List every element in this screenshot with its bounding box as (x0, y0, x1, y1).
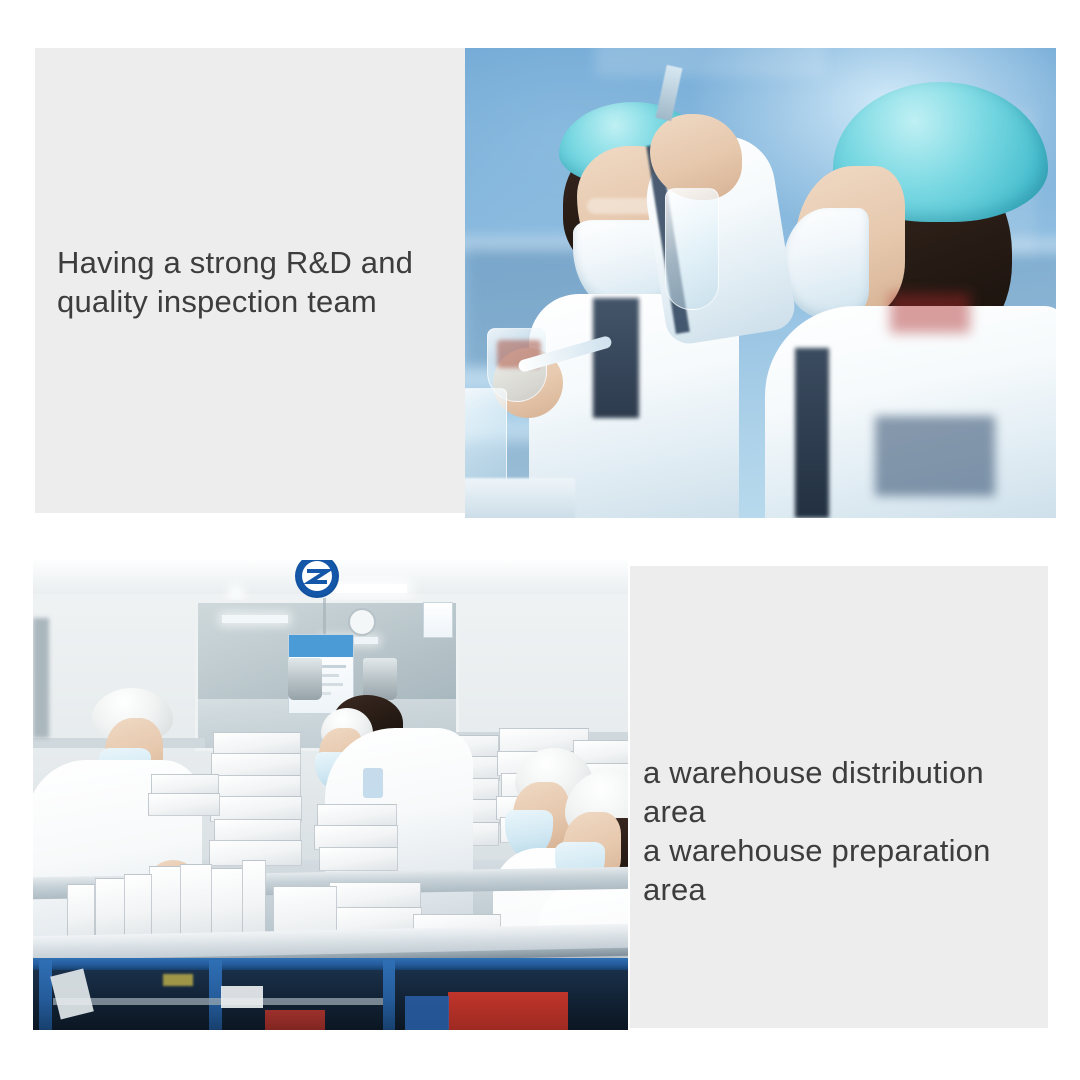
red-crate-center (265, 1010, 325, 1030)
lab-ceiling-light (595, 48, 825, 76)
table-frame-rail (33, 958, 628, 970)
ceiling-downlight (231, 588, 241, 598)
table-cross-brace (53, 998, 383, 1005)
rd-quality-lab-photo (465, 48, 1056, 518)
blue-bin (405, 996, 449, 1030)
worker-bent-badge (363, 768, 383, 798)
glass-beaker-upper (665, 188, 719, 310)
wall-edge-left (33, 618, 49, 738)
section-warehouse-caption: a warehouse distribution area a warehous… (643, 753, 1043, 909)
loose-paper-2 (221, 986, 263, 1008)
red-crate-right (448, 992, 568, 1030)
yellow-marking (163, 974, 193, 986)
wall-clock-icon (348, 608, 376, 636)
table-leg-3 (383, 960, 395, 1030)
section-rd-quality-caption: Having a strong R&D and quality inspecti… (57, 243, 457, 321)
bench-top-white (465, 478, 575, 518)
technician-right-lapel (795, 348, 829, 518)
small-wall-card (423, 602, 453, 638)
technician-right-mask (783, 208, 869, 318)
ceiling-light-1 (333, 584, 407, 593)
company-logo-icon (295, 560, 339, 598)
technician-left-collar (593, 298, 639, 418)
table-leg-1 (39, 960, 52, 1030)
sign-header-bar (289, 635, 353, 657)
steel-container-2 (363, 658, 397, 700)
steel-container-1 (288, 658, 322, 700)
dark-equipment-blur (875, 416, 995, 496)
warehouse-packing-photo (33, 560, 628, 1030)
page-root: Having a strong R&D and quality inspecti… (0, 0, 1080, 1080)
window-inner-light-1 (222, 615, 288, 623)
red-tray-blur (890, 293, 970, 333)
